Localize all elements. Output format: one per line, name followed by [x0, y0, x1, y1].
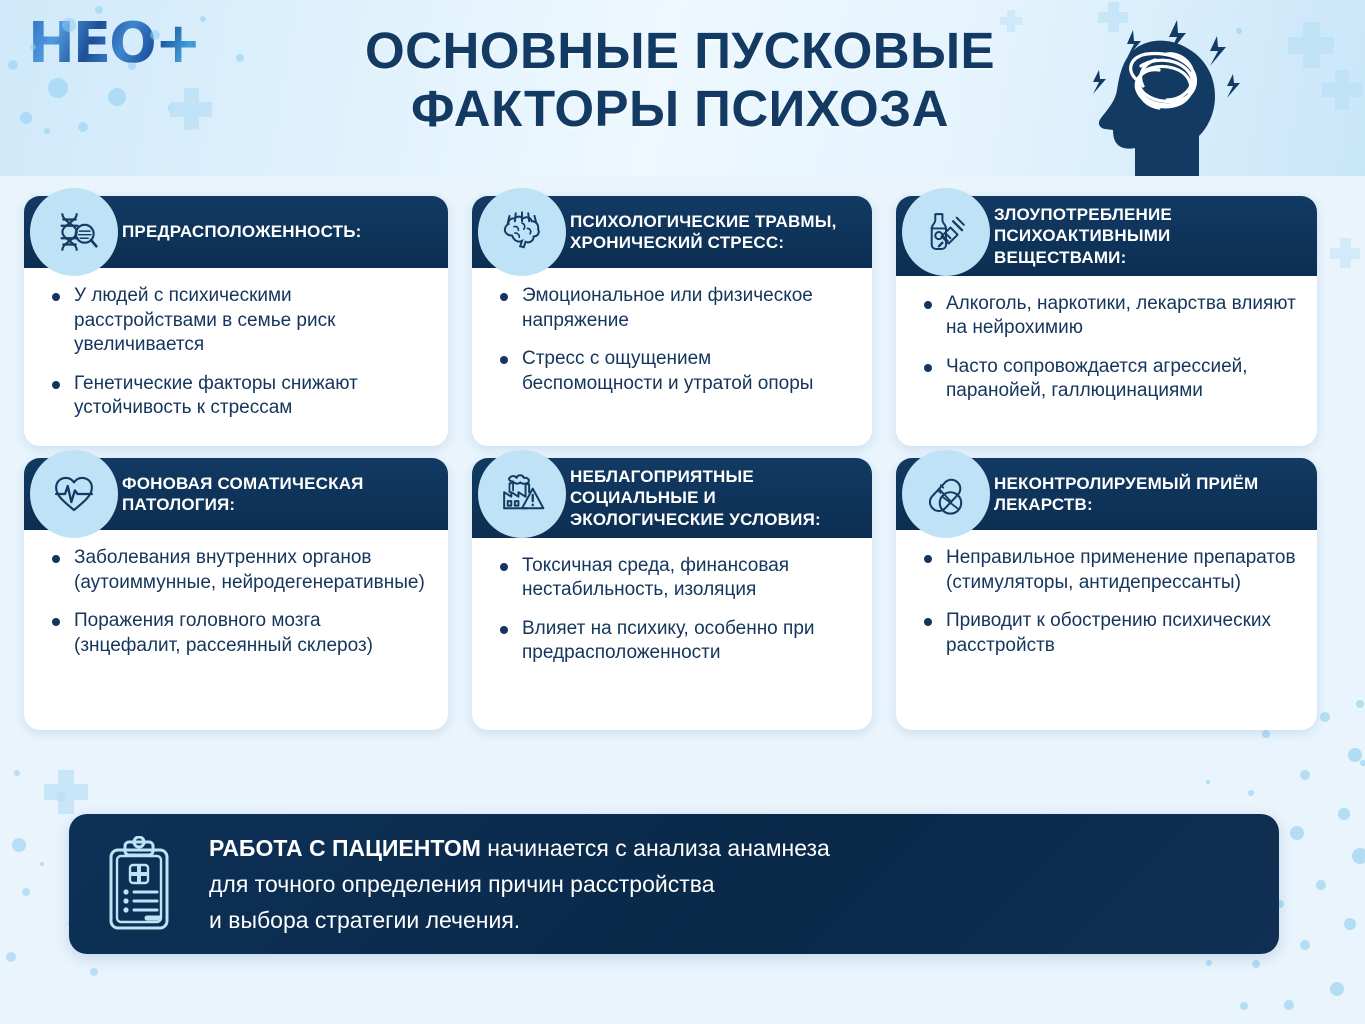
decorative-dot — [90, 968, 98, 976]
card-header: ПРЕДРАСПОЛОЖЕННОСТЬ: — [24, 196, 448, 268]
bullet-item: Влияет на психику, особенно при предрасп… — [496, 617, 854, 666]
decorative-dot — [1344, 918, 1356, 930]
decorative-dot — [1248, 790, 1254, 796]
decorative-cross — [1098, 12, 1128, 23]
dna-magnifier-icon — [30, 188, 118, 276]
bullet-list: У людей с психическими расстройствами в … — [48, 284, 430, 421]
card-header: НЕБЛАГОПРИЯТНЫЕ СОЦИАЛЬНЫЕ И ЭКОЛОГИЧЕСК… — [472, 458, 872, 538]
card-body: Неправильное применение препаратов (стим… — [896, 530, 1317, 730]
decorative-dot — [22, 888, 30, 896]
decorative-dot — [95, 6, 103, 14]
footer-line-1-rest: начинается с анализа анамнеза — [481, 835, 830, 861]
footer-line-1: РАБОТА С ПАЦИЕНТОМ начинается с анализа … — [209, 830, 830, 866]
factor-card-social-ecological[interactable]: НЕБЛАГОПРИЯТНЫЕ СОЦИАЛЬНЫЕ И ЭКОЛОГИЧЕСК… — [472, 458, 872, 730]
decorative-dot — [40, 862, 44, 866]
decorative-dot — [6, 952, 16, 962]
decorative-dot — [108, 88, 126, 106]
decorative-dot — [1252, 960, 1260, 968]
decorative-dot — [150, 30, 160, 40]
bullet-item: Эмоциональное или физическое напряжение — [496, 284, 854, 333]
card-slot-1: ПРЕДРАСПОЛОЖЕННОСТЬ: У людей с психическ… — [24, 196, 472, 446]
decorative-dot — [1300, 770, 1310, 780]
card-title: ФОНОВАЯ СОМАТИЧЕСКАЯ ПАТОЛОГИЯ: — [122, 473, 434, 516]
decorative-dot — [1262, 730, 1270, 738]
bullet-list: Эмоциональное или физическое напряжение … — [496, 284, 854, 396]
factor-cards-grid: ПРЕДРАСПОЛОЖЕННОСТЬ: У людей с психическ… — [24, 196, 1341, 730]
pills-icon — [902, 450, 990, 538]
bullet-item: Генетические факторы снижают устойчивост… — [48, 372, 430, 421]
decorative-dot — [48, 78, 68, 98]
footer-line-3: и выбора стратегии лечения. — [209, 902, 830, 938]
bullet-list: Заболевания внутренних органов (аутоимму… — [48, 546, 430, 658]
card-slot-4: ФОНОВАЯ СОМАТИЧЕСКАЯ ПАТОЛОГИЯ: Заболева… — [24, 458, 472, 730]
card-slot-5: НЕБЛАГОПРИЯТНЫЕ СОЦИАЛЬНЫЕ И ЭКОЛОГИЧЕСК… — [472, 458, 896, 730]
clipboard-medical-icon — [69, 836, 209, 932]
card-title: ПРЕДРАСПОЛОЖЕННОСТЬ: — [122, 221, 362, 242]
footer-text: РАБОТА С ПАЦИЕНТОМ начинается с анализа … — [209, 830, 860, 939]
card-slot-6: НЕКОНТРОЛИРУЕМЫЙ ПРИЁМ ЛЕКАРСТВ: Неправи… — [896, 458, 1341, 730]
bullet-item: Стресс с ощущением беспомощности и утрат… — [496, 347, 854, 396]
decorative-dot — [1206, 780, 1210, 784]
decorative-dot — [236, 54, 244, 62]
decorative-cross — [1000, 17, 1022, 25]
bullet-list: Токсичная среда, финансовая нестабильнос… — [496, 554, 854, 666]
decorative-cross — [44, 784, 88, 800]
footer-line-2: для точного определения причин расстройс… — [209, 866, 830, 902]
decorative-dot — [20, 112, 32, 124]
footer-bold-lead: РАБОТА С ПАЦИЕНТОМ — [209, 835, 481, 861]
page-title: ОСНОВНЫЕ ПУСКОВЫЕ ФАКТОРЫ ПСИХОЗА — [300, 22, 1060, 137]
factor-card-predisposition[interactable]: ПРЕДРАСПОЛОЖЕННОСТЬ: У людей с психическ… — [24, 196, 448, 446]
decorative-dot — [1240, 1002, 1248, 1010]
stressed-brain-icon — [478, 188, 566, 276]
decorative-dot — [1338, 808, 1350, 820]
factor-card-somatic-pathology[interactable]: ФОНОВАЯ СОМАТИЧЕСКАЯ ПАТОЛОГИЯ: Заболева… — [24, 458, 448, 730]
decorative-dot — [1236, 28, 1242, 34]
decorative-dot — [1330, 982, 1344, 996]
factor-card-uncontrolled-medication[interactable]: НЕКОНТРОЛИРУЕМЫЙ ПРИЁМ ЛЕКАРСТВ: Неправи… — [896, 458, 1317, 730]
bullet-item: Алкоголь, наркотики, лекарства влияют на… — [920, 292, 1299, 341]
card-header: ПСИХОЛОГИЧЕСКИЕ ТРАВМЫ, ХРОНИЧЕСКИЙ СТРЕ… — [472, 196, 872, 268]
card-title: НЕКОНТРОЛИРУЕМЫЙ ПРИЁМ ЛЕКАРСТВ: — [994, 473, 1303, 516]
bullet-list: Неправильное применение препаратов (стим… — [920, 546, 1299, 658]
decorative-dot — [128, 62, 136, 70]
decorative-dot — [30, 44, 36, 50]
card-slot-2: ПСИХОЛОГИЧЕСКИЕ ТРАВМЫ, ХРОНИЧЕСКИЙ СТРЕ… — [472, 196, 896, 446]
bottle-syringe-icon — [902, 188, 990, 276]
factor-card-substance-abuse[interactable]: ЗЛОУПОТРЕБЛЕНИЕ ПСИХОАКТИВНЫМИ ВЕЩЕСТВАМ… — [896, 196, 1317, 446]
bullet-item: Часто сопровождается агрессией, паранойе… — [920, 355, 1299, 404]
footer-callout-banner: РАБОТА С ПАЦИЕНТОМ начинается с анализа … — [69, 814, 1279, 954]
card-body: Эмоциональное или физическое напряжение … — [472, 268, 872, 446]
card-title: ЗЛОУПОТРЕБЛЕНИЕ ПСИХОАКТИВНЫМИ ВЕЩЕСТВАМ… — [994, 204, 1303, 268]
card-title: НЕБЛАГОПРИЯТНЫЕ СОЦИАЛЬНЫЕ И ЭКОЛОГИЧЕСК… — [570, 466, 858, 530]
decorative-dot — [1352, 848, 1365, 864]
head-with-tangled-thoughts-icon — [1067, 8, 1257, 176]
bullet-item: Поражения головного мозга (знцефалит, ра… — [48, 609, 430, 658]
decorative-dot — [78, 122, 88, 132]
card-body: У людей с психическими расстройствами в … — [24, 268, 448, 446]
header-banner: НЕО+ ОСНОВНЫЕ ПУСКОВЫЕ ФАКТОРЫ ПСИХОЗА — [0, 0, 1365, 176]
bullet-item: Заболевания внутренних органов (аутоимму… — [48, 546, 430, 595]
decorative-dot — [14, 770, 20, 776]
decorative-dot — [200, 16, 206, 22]
card-body: Токсичная среда, финансовая нестабильнос… — [472, 538, 872, 730]
bullet-item: У людей с психическими расстройствами в … — [48, 284, 430, 358]
page-title-line-2: ФАКТОРЫ ПСИХОЗА — [300, 80, 1060, 138]
page-title-line-1: ОСНОВНЫЕ ПУСКОВЫЕ — [300, 22, 1060, 80]
decorative-dot — [8, 60, 18, 70]
card-header: ФОНОВАЯ СОМАТИЧЕСКАЯ ПАТОЛОГИЯ: — [24, 458, 448, 530]
decorative-dot — [1284, 1000, 1294, 1010]
decorative-dot — [1356, 700, 1364, 708]
decorative-cross — [170, 102, 212, 117]
decorative-dot — [1360, 760, 1365, 766]
decorative-dot — [44, 128, 50, 134]
brand-logo: НЕО+ — [28, 16, 200, 72]
card-body: Алкоголь, наркотики, лекарства влияют на… — [896, 276, 1317, 446]
bullet-item: Приводит к обострению психических расстр… — [920, 609, 1299, 658]
bullet-item: Токсичная среда, финансовая нестабильнос… — [496, 554, 854, 603]
decorative-dot — [1300, 940, 1310, 950]
card-slot-3: ЗЛОУПОТРЕБЛЕНИЕ ПСИХОАКТИВНЫМИ ВЕЩЕСТВАМ… — [896, 196, 1341, 446]
decorative-dot — [1316, 880, 1326, 890]
card-body: Заболевания внутренних органов (аутоимму… — [24, 530, 448, 730]
decorative-cross — [1322, 83, 1362, 97]
factor-card-trauma-stress[interactable]: ПСИХОЛОГИЧЕСКИЕ ТРАВМЫ, ХРОНИЧЕСКИЙ СТРЕ… — [472, 196, 872, 446]
heart-pulse-icon — [30, 450, 118, 538]
decorative-dot — [12, 838, 26, 852]
decorative-dot — [62, 18, 76, 32]
bullet-item: Неправильное применение препаратов (стим… — [920, 546, 1299, 595]
card-header: ЗЛОУПОТРЕБЛЕНИЕ ПСИХОАКТИВНЫМИ ВЕЩЕСТВАМ… — [896, 196, 1317, 276]
card-header: НЕКОНТРОЛИРУЕМЫЙ ПРИЁМ ЛЕКАРСТВ: — [896, 458, 1317, 530]
bullet-list: Алкоголь, наркотики, лекарства влияют на… — [920, 292, 1299, 404]
decorative-cross — [1288, 37, 1334, 54]
card-title: ПСИХОЛОГИЧЕСКИЕ ТРАВМЫ, ХРОНИЧЕСКИЙ СТРЕ… — [570, 211, 858, 254]
decorative-dot — [1290, 826, 1304, 840]
factory-warning-icon — [478, 450, 566, 538]
decorative-dot — [1206, 960, 1212, 966]
